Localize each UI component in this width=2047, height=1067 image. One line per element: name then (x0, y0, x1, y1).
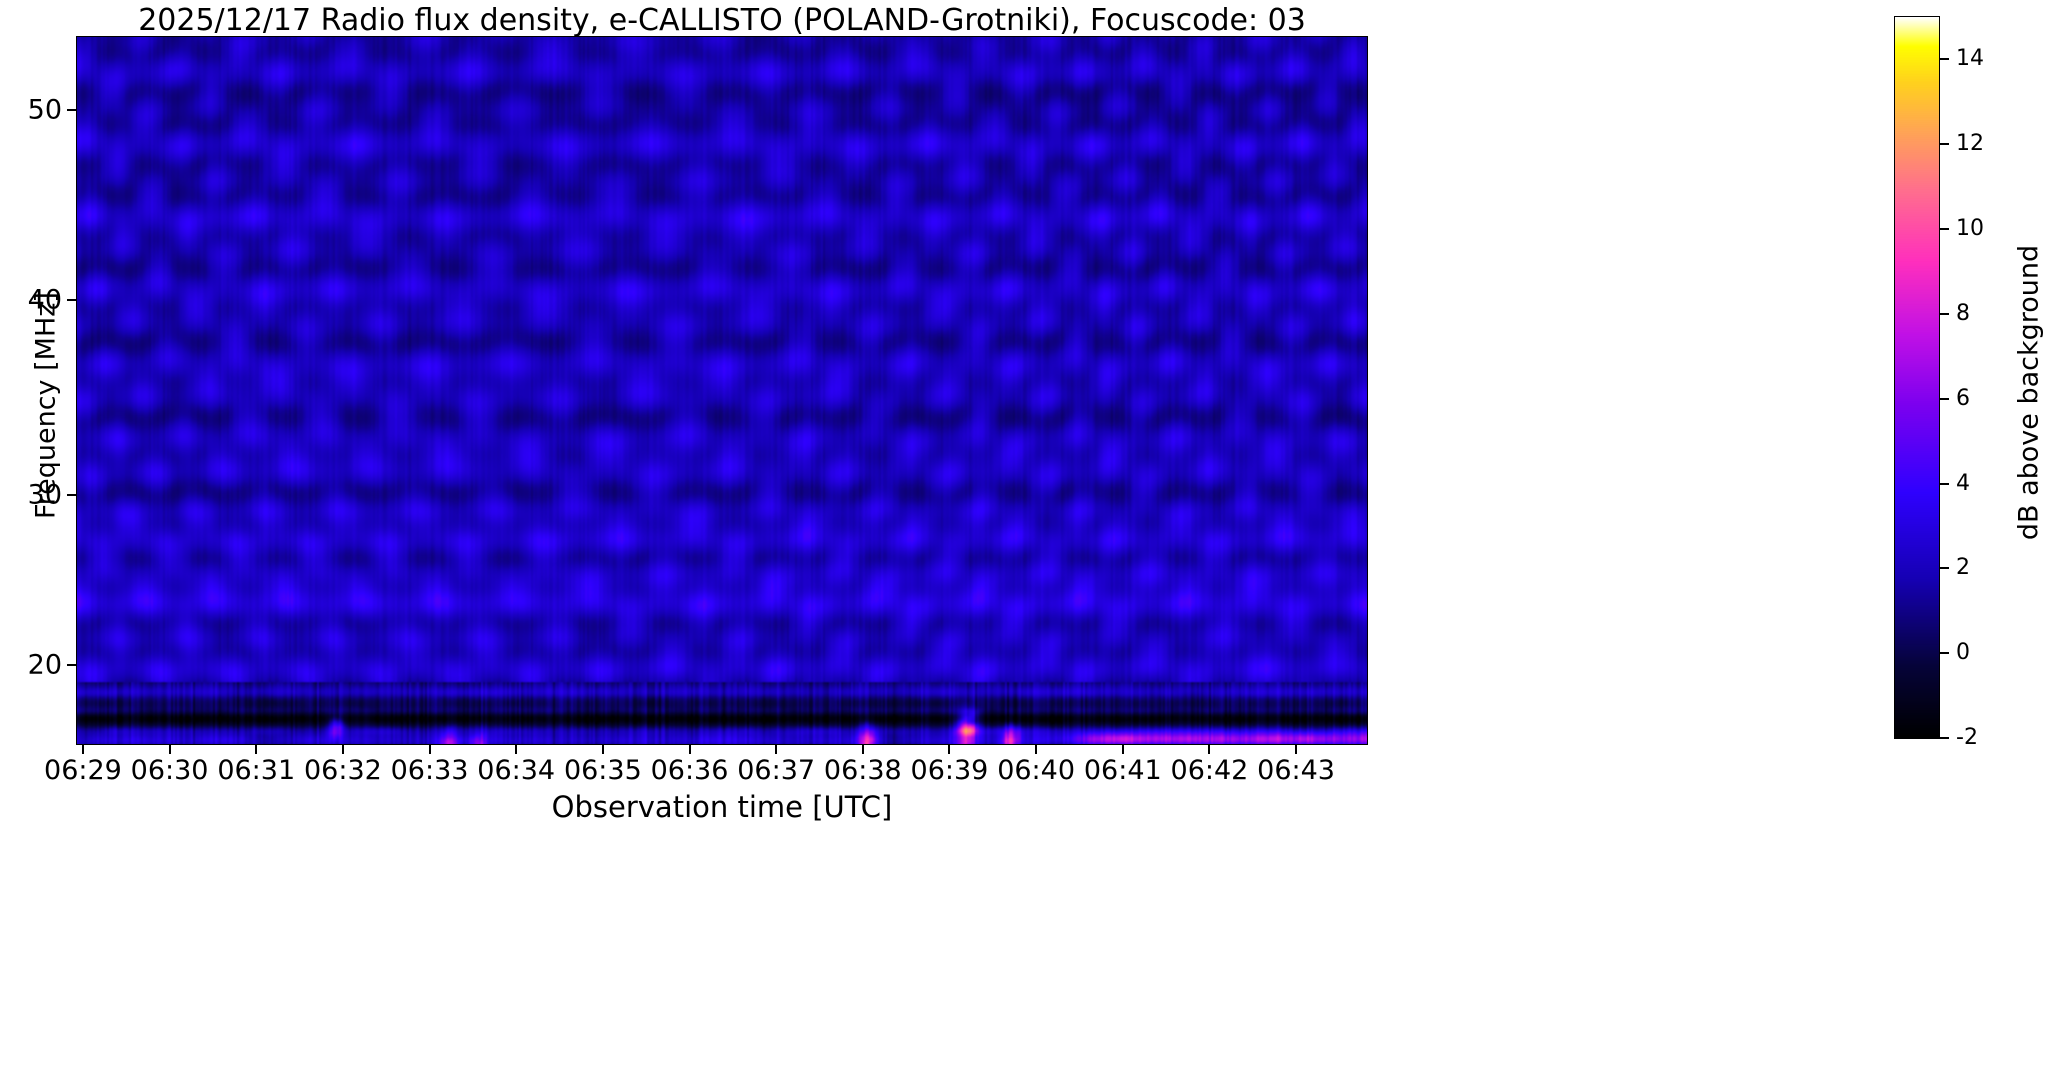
x-tick-mark (862, 745, 864, 754)
y-tick-mark (67, 299, 76, 301)
colorbar-tick-label: 14 (1956, 48, 1984, 70)
page-title: 2025/12/17 Radio flux density, e-CALLIST… (76, 4, 1368, 38)
colorbar-tick-mark (1940, 58, 1949, 60)
x-tick-label: 06:33 (391, 757, 469, 784)
colorbar-tick-label: 4 (1956, 473, 1970, 495)
x-tick-label: 06:30 (131, 757, 209, 784)
colorbar-tick-label: 2 (1956, 557, 1970, 579)
y-tick-mark (67, 109, 76, 111)
x-tick-label: 06:41 (1084, 757, 1162, 784)
x-tick-mark (169, 745, 171, 754)
spectrogram-image (77, 37, 1368, 745)
spectrogram-axes[interactable] (76, 36, 1368, 745)
colorbar-tick-mark (1940, 143, 1949, 145)
x-tick-label: 06:32 (304, 757, 382, 784)
y-tick-mark (67, 664, 76, 666)
x-tick-label: 06:37 (737, 757, 815, 784)
x-tick-label: 06:38 (824, 757, 902, 784)
colorbar-tick-label: 6 (1956, 388, 1970, 410)
x-tick-mark (602, 745, 604, 754)
x-tick-mark (342, 745, 344, 754)
figure-canvas: 2025/12/17 Radio flux density, e-CALLIST… (0, 0, 2047, 1067)
x-tick-mark (515, 745, 517, 754)
y-tick-mark (67, 494, 76, 496)
colorbar-tick-label: 10 (1956, 218, 1984, 240)
colorbar-tick-label: 8 (1956, 303, 1970, 325)
colorbar-tick-mark (1940, 228, 1949, 230)
colorbar-tick-label: 0 (1956, 642, 1970, 664)
x-tick-label: 06:35 (564, 757, 642, 784)
colorbar-tick-mark (1940, 737, 1949, 739)
x-tick-mark (429, 745, 431, 754)
y-tick-label: 50 (28, 97, 62, 124)
y-tick-label: 20 (28, 651, 62, 678)
y-axis-ticks: 50403020 (0, 36, 76, 745)
colorbar-tick-label: 12 (1956, 133, 1984, 155)
x-tick-mark (1122, 745, 1124, 754)
x-tick-label: 06:36 (651, 757, 729, 784)
x-tick-label: 06:39 (911, 757, 989, 784)
x-tick-mark (948, 745, 950, 754)
colorbar-tick-mark (1940, 567, 1949, 569)
y-tick-label: 40 (28, 286, 62, 313)
colorbar-gradient (1895, 17, 1939, 738)
x-tick-mark (775, 745, 777, 754)
colorbar-tick-mark (1940, 652, 1949, 654)
x-tick-label: 06:31 (217, 757, 295, 784)
x-tick-label: 06:43 (1257, 757, 1335, 784)
x-tick-label: 06:40 (997, 757, 1075, 784)
x-tick-mark (1295, 745, 1297, 754)
x-tick-label: 06:34 (477, 757, 555, 784)
colorbar-tick-mark (1940, 483, 1949, 485)
x-tick-mark (689, 745, 691, 754)
x-tick-mark (255, 745, 257, 754)
colorbar-label: dB above background (2014, 133, 2045, 653)
x-tick-mark (1035, 745, 1037, 754)
x-tick-label: 06:42 (1171, 757, 1249, 784)
x-tick-label: 06:29 (44, 757, 122, 784)
colorbar-tick-mark (1940, 313, 1949, 315)
colorbar-label-container: dB above background (2000, 16, 2030, 739)
colorbar-tick-label: -2 (1956, 727, 1978, 749)
colorbar-tick-mark (1940, 398, 1949, 400)
y-tick-label: 30 (28, 482, 62, 509)
x-tick-mark (82, 745, 84, 754)
x-axis-label: Observation time [UTC] (76, 790, 1368, 824)
colorbar[interactable] (1894, 16, 1940, 739)
x-tick-mark (1208, 745, 1210, 754)
